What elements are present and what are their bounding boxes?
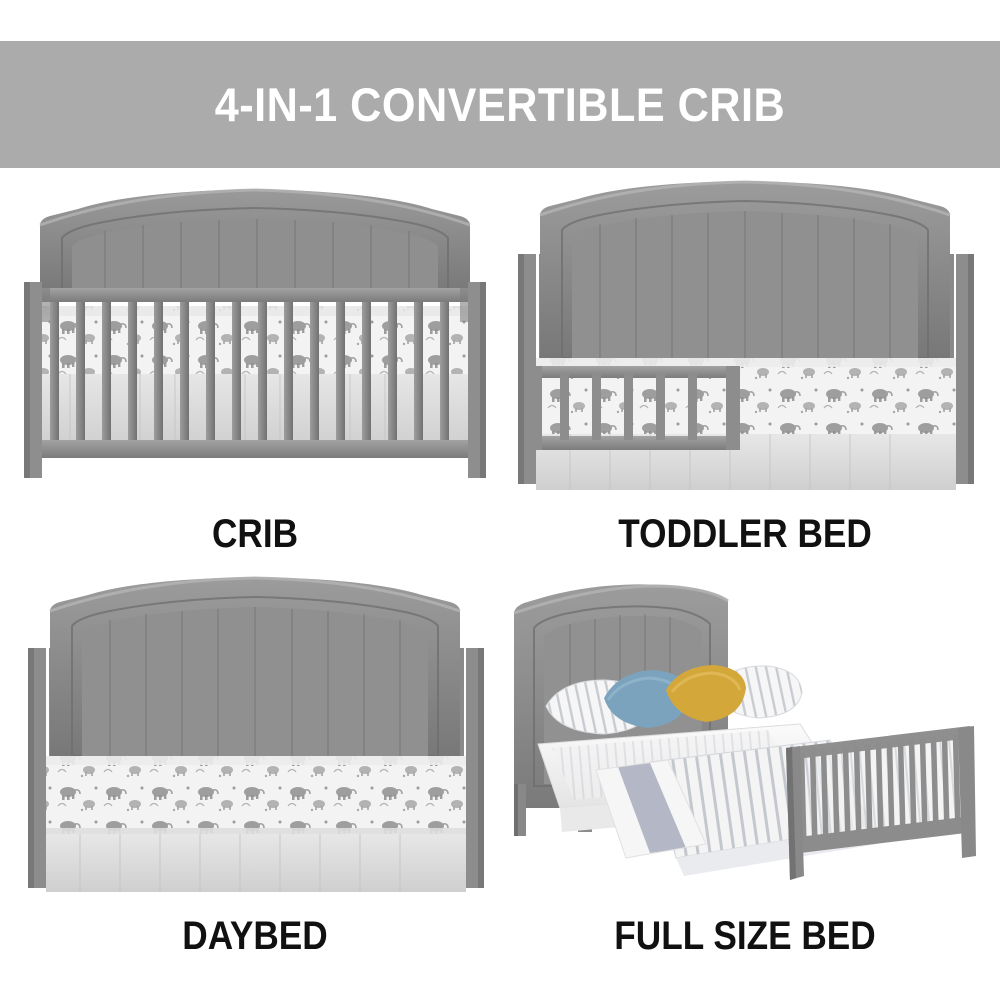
crib-right-side-rail [460, 288, 468, 322]
banner-title: 4-IN-1 CONVERTIBLE CRIB [215, 81, 785, 128]
configuration-crib: CRIB [10, 178, 500, 573]
fullsize-headboard-left-leg-shadow [514, 784, 518, 836]
crib-headboard-inset [72, 219, 438, 296]
infographic-page: 4-IN-1 CONVERTIBLE CRIB [0, 0, 1000, 1000]
toddler-bed-illustration [500, 178, 990, 508]
toddler-right-post-shadow [968, 254, 974, 484]
crib-left-post-shadow [24, 282, 30, 478]
configuration-full-size-bed: FULL SIZE BED [500, 576, 990, 976]
daybed-svg [10, 576, 500, 906]
daybed-mattress [44, 756, 468, 836]
daybed-mattress-top-edge [44, 756, 468, 765]
header-banner: 4-IN-1 CONVERTIBLE CRIB [0, 41, 1000, 168]
crib-illustration [10, 178, 500, 508]
configuration-toddler-bed: TODDLER BED [500, 178, 990, 573]
guard-rail-bottom [528, 436, 740, 450]
label-crib: CRIB [39, 514, 470, 554]
fullsize-footboard [786, 726, 976, 880]
crib-top-rail [28, 288, 482, 302]
label-full-size-bed: FULL SIZE BED [529, 916, 960, 956]
crib-mattress [36, 306, 474, 374]
crib-mattress-top-edge [36, 306, 474, 316]
configuration-daybed: DAYBED [10, 576, 500, 976]
toddler-mattress-top-edge [534, 358, 958, 367]
fullsize-footboard-right-post [958, 726, 976, 858]
toddler-left-post-shadow [518, 254, 524, 484]
full-size-bed-svg [500, 576, 990, 906]
crib-left-side-rail [42, 288, 50, 322]
crib-right-post-shadow [480, 282, 486, 478]
configuration-grid: CRIB [0, 178, 1000, 978]
toddler-bed-svg [500, 178, 990, 508]
crib-bottom-rail [32, 440, 478, 458]
daybed-illustration [10, 576, 500, 906]
full-size-bed-illustration [500, 576, 990, 906]
guard-rail-top [528, 366, 740, 378]
label-toddler-bed: TODDLER BED [529, 514, 960, 554]
daybed-dust-skirt [46, 834, 466, 892]
daybed-left-post-shadow [28, 648, 34, 888]
daybed-right-post-shadow [478, 648, 484, 888]
label-daybed: DAYBED [39, 916, 470, 956]
crib-svg [10, 178, 500, 508]
